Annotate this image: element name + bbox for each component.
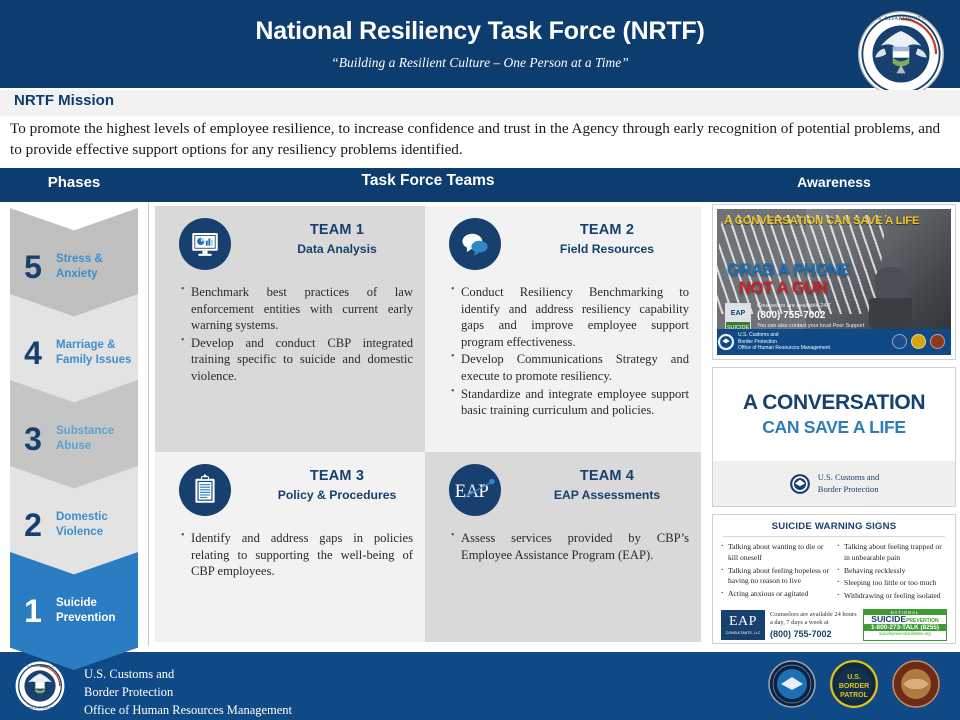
team-bullet: Conduct Resiliency Benchmarking to ident…	[451, 284, 689, 350]
footer-office: Office of Human Resources Management	[84, 703, 292, 718]
a-conversation-poster[interactable]: A CONVERSATION CAN SAVE A LIFE U.S. Cust…	[712, 367, 956, 507]
phase-label: Stress &Anxiety	[56, 252, 107, 281]
warning-sign-item: Acting anxious or agitated	[721, 589, 831, 600]
team-subtitle: EAP Assessments	[517, 488, 697, 502]
eap-logo-sub: CONSULTANTS, LLC	[726, 631, 761, 635]
team-bullet: Standardize and integrate employee suppo…	[451, 386, 689, 419]
suicide-warning-signs-poster[interactable]: SUICIDE WARNING SIGNS Talking about want…	[712, 514, 956, 644]
phase-label: Marriage &Family Issues	[56, 338, 135, 367]
footer-line1: U.S. Customs and	[84, 666, 174, 684]
team-title-block: TEAM 1Data Analysis	[247, 222, 425, 256]
poster-line1: GRAB A PHONE	[727, 261, 851, 280]
team-header: TEAM 1Data Analysis	[155, 206, 425, 278]
phase-number: 2	[10, 509, 56, 541]
us-border-patrol-seal-icon	[911, 334, 926, 349]
team-title-block: TEAM 4EAP Assessments	[517, 468, 697, 502]
section-title-phases: Phases	[0, 174, 148, 191]
poster3-title: SUICIDE WARNING SIGNS	[721, 521, 947, 532]
footer-seal-row: U.S. BORDER PATROL	[768, 660, 940, 708]
team-bullet: Develop and conduct CBP integrated train…	[181, 335, 413, 385]
task-force-teams-grid: TEAM 1Data AnalysisBenchmark best practi…	[155, 206, 701, 642]
poster-avail-text: Counselors are available 24/7	[757, 303, 867, 309]
warning-sign-item: Behaving recklessly	[837, 566, 947, 577]
warning-sign-item: Talking about feeling trapped or in unbe…	[837, 542, 947, 564]
section-title-teams: Task Force Teams	[148, 172, 708, 190]
warning-sign-item: Withdrawing or feeling isolated	[837, 591, 947, 602]
team-card-2[interactable]: TEAM 2Field ResourcesConduct Resiliency …	[425, 206, 701, 452]
phase-label: SuicidePrevention	[56, 596, 119, 625]
svg-text:U.S.: U.S.	[847, 674, 861, 681]
mission-text: To promote the highest levels of employe…	[10, 119, 954, 161]
phases-column: 5Stress &Anxiety4Marriage &Family Issues…	[0, 202, 148, 646]
phase-number: 1	[10, 595, 56, 627]
poster2-line2: CAN SAVE A LIFE	[762, 417, 906, 438]
phase-number: 4	[10, 337, 56, 369]
poster-line2: NOT A GUN	[739, 279, 828, 298]
team-title-block: TEAM 2Field Resources	[517, 222, 697, 256]
seated-person-graphic	[867, 267, 918, 328]
warning-signs-left-column: Talking about wanting to die or kill one…	[721, 542, 831, 604]
team-header: E A P TEAM 4EAP Assessments	[425, 452, 701, 524]
eap-badge-label: EAP	[726, 304, 750, 322]
poster2-line1-a: A	[743, 391, 762, 414]
dhs-seal-icon: U.S. DEPARTMENT OF HOMELAND SECURITY	[852, 8, 950, 100]
phase-label: DomesticViolence	[56, 510, 112, 539]
poster2-agency-line2: Border Protection	[818, 484, 879, 495]
cbp-air-marine-seal-icon	[768, 660, 816, 708]
svg-text:HOMELAND SECURITY: HOMELAND SECURITY	[23, 706, 58, 710]
svg-text:PATROL: PATROL	[840, 692, 868, 699]
team-bullet: Develop Communications Strategy and exec…	[451, 351, 689, 384]
warning-sign-item: Sleeping too little or too much	[837, 578, 947, 589]
poster-footer-bar: U.S. Customs and Border Protection Offic…	[717, 329, 951, 355]
lifeline-number: 1-800-273-TALK (8255)	[864, 624, 946, 631]
page-title: National Resiliency Task Force (NRTF)	[0, 17, 960, 46]
team-name: TEAM 4	[517, 468, 697, 484]
header-bar: National Resiliency Task Force (NRTF) “B…	[0, 0, 960, 88]
warning-sign-item: Talking about feeling hopeless or having…	[721, 566, 831, 588]
counselors-block: Counselors are available 24 hours a day,…	[770, 611, 858, 640]
team-card-4[interactable]: E A P TEAM 4EAP AssessmentsAssess servic…	[425, 452, 701, 642]
team-bullet: Benchmark best practices of law enforcem…	[181, 284, 413, 334]
team-card-1[interactable]: TEAM 1Data AnalysisBenchmark best practi…	[155, 206, 425, 452]
poster-headline: A CONVERSATION CAN SAVE A LIFE	[724, 215, 919, 227]
svg-text:U.S. DEPARTMENT OF: U.S. DEPARTMENT OF	[873, 16, 930, 22]
team-bullet-list: Identify and address gaps in policies re…	[169, 530, 425, 580]
poster-footer-line3: Office of Human Resources Management	[738, 345, 830, 352]
warning-sign-item: Talking about wanting to die or kill one…	[721, 542, 831, 564]
counselors-phone: (800) 755-7002	[770, 629, 858, 639]
lifeline-main: SUICIDEPREVENTION	[864, 615, 946, 624]
page-subtitle: “Building a Resilient Culture – One Pers…	[0, 55, 960, 71]
divider	[723, 536, 945, 537]
team-subtitle: Data Analysis	[247, 242, 425, 256]
footer-agency-name: U.S. Customs and Border Protection	[84, 666, 174, 702]
lifeline-url: suicidepreventionlifeline.org	[864, 631, 946, 636]
poster2-agency-line1: U.S. Customs and	[818, 472, 879, 483]
phase-number: 5	[10, 251, 56, 283]
monitor-chart-icon	[179, 218, 231, 270]
svg-text:BORDER: BORDER	[839, 683, 869, 690]
clipboard-icon	[179, 464, 231, 516]
speech-bubbles-icon	[449, 218, 501, 270]
grab-a-phone-poster[interactable]: A CONVERSATION CAN SAVE A LIFE GRAB A PH…	[712, 204, 956, 360]
phase-number: 3	[10, 423, 56, 455]
dhs-seal-icon: U.S. DEPARTMENT OF HOMELAND SECURITY	[14, 660, 66, 712]
team-name: TEAM 1	[247, 222, 425, 238]
team-header: TEAM 3Policy & Procedures	[155, 452, 425, 524]
poster2-agency-bar: U.S. Customs and Border Protection	[713, 461, 955, 506]
phase-label: SubstanceAbuse	[56, 424, 118, 453]
mission-band	[0, 90, 960, 116]
us-border-patrol-seal-icon: U.S. BORDER PATROL	[830, 660, 878, 708]
team-header: TEAM 2Field Resources	[425, 206, 701, 278]
awareness-column: A CONVERSATION CAN SAVE A LIFE GRAB A PH…	[712, 204, 956, 644]
team-bullet: Assess services provided by CBP’s Employ…	[451, 530, 689, 563]
svg-text:U.S. DEPARTMENT OF: U.S. DEPARTMENT OF	[24, 664, 56, 668]
office-of-field-operations-seal-icon	[892, 660, 940, 708]
mission-label: NRTF Mission	[14, 92, 114, 109]
eap-logo-text: EAP	[729, 614, 757, 630]
phase-chevron-stack: 5Stress &Anxiety4Marriage &Family Issues…	[10, 208, 138, 640]
footer-bar: U.S. DEPARTMENT OF HOMELAND SECURITY U.S…	[0, 652, 960, 720]
team-name: TEAM 2	[517, 222, 697, 238]
team-bullet-list: Benchmark best practices of law enforcem…	[169, 284, 425, 385]
suicide-prevention-lifeline-logo: NATIONAL SUICIDEPREVENTION 1-800-273-TAL…	[863, 609, 947, 641]
warning-signs-right-column: Talking about feeling trapped or in unbe…	[837, 542, 947, 604]
counselors-text: Counselors are available 24 hours a day,…	[770, 611, 858, 628]
dhs-seal-icon	[789, 473, 811, 495]
poster2-line1: A CONVERSATION	[743, 391, 925, 415]
team-bullet: Identify and address gaps in policies re…	[181, 530, 413, 580]
svg-text:E: E	[455, 481, 466, 502]
footer-line2: Border Protection	[84, 684, 174, 702]
team-name: TEAM 3	[247, 468, 425, 484]
slide-root: National Resiliency Task Force (NRTF) “B…	[0, 0, 960, 720]
lifeline-main-text: SUICIDE	[871, 615, 906, 624]
section-title-awareness: Awareness	[708, 174, 960, 190]
team-card-3[interactable]: TEAM 3Policy & ProceduresIdentify and ad…	[155, 452, 425, 642]
dhs-seal-icon	[717, 333, 735, 351]
team-subtitle: Field Resources	[517, 242, 697, 256]
poster-seal-row	[892, 334, 945, 349]
eap-logo-icon: E A P	[449, 464, 501, 516]
team-bullet-list: Conduct Resiliency Benchmarking to ident…	[439, 284, 701, 419]
cbp-air-marine-seal-icon	[892, 334, 907, 349]
eap-logo-icon: EAP CONSULTANTS, LLC	[721, 610, 765, 640]
team-title-block: TEAM 3Policy & Procedures	[247, 468, 425, 502]
team-subtitle: Policy & Procedures	[247, 488, 425, 502]
team-bullet-list: Assess services provided by CBP’s Employ…	[439, 530, 701, 563]
office-of-field-operations-seal-icon	[930, 334, 945, 349]
column-divider	[148, 202, 149, 646]
poster-phone: (800) 755-7002	[757, 310, 867, 321]
poster2-line1-b: CONVERSATION	[762, 391, 925, 414]
